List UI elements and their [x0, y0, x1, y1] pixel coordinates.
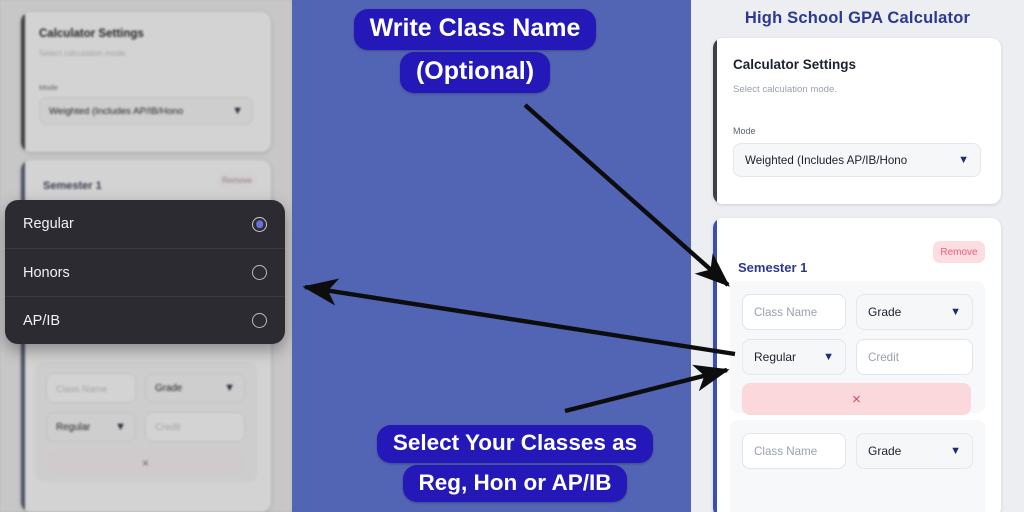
- arrow-to-options-sheet: [305, 287, 735, 354]
- callout-bottom-line1: Select Your Classes as: [377, 425, 653, 463]
- callout-top-line2: (Optional): [400, 52, 550, 93]
- callout-select-classes: Select Your Classes as Reg, Hon or AP/IB: [362, 424, 668, 503]
- callout-write-class-name: Write Class Name (Optional): [322, 8, 628, 94]
- arrow-to-level-select: [565, 370, 727, 411]
- arrow-to-class-name: [525, 105, 728, 285]
- screenshot-stage: Calculator Settings Select calculation m…: [0, 0, 1024, 512]
- callout-top-line1: Write Class Name: [354, 9, 597, 50]
- callout-bottom-line2: Reg, Hon or AP/IB: [403, 465, 628, 503]
